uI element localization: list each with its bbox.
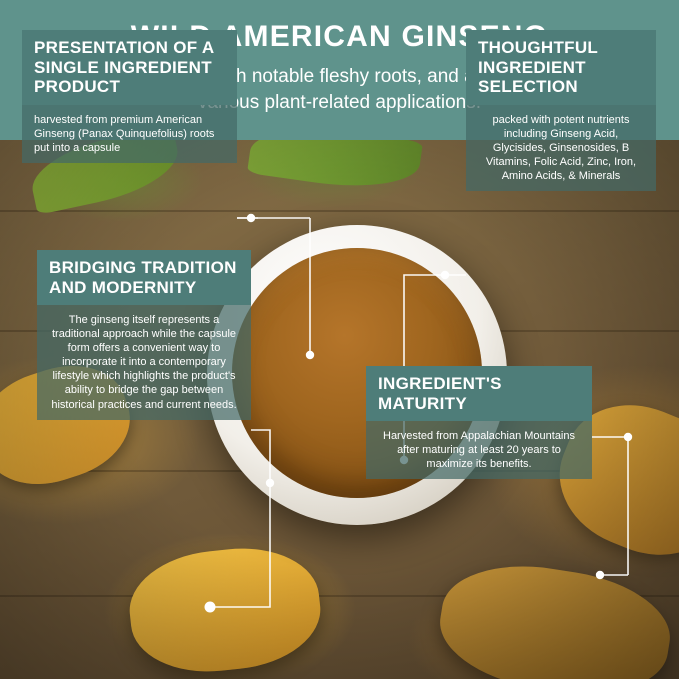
callout-thoughtful-heading: THOUGHTFUL INGREDIENT SELECTION [466,30,656,105]
callout-bridging: BRIDGING TRADITION AND MODERNITY The gin… [37,250,251,420]
callout-maturity: INGREDIENT'S MATURITY Harvested from App… [366,366,592,479]
callout-presentation: PRESENTATION OF A SINGLE INGREDIENT PROD… [22,30,237,163]
callout-thoughtful-body: packed with potent nutrients including G… [466,105,656,191]
callout-presentation-body: harvested from premium American Ginseng … [22,105,237,163]
callout-bridging-body: The ginseng itself represents a traditio… [37,305,251,420]
callout-thoughtful: THOUGHTFUL INGREDIENT SELECTION packed w… [466,30,656,191]
callout-presentation-heading: PRESENTATION OF A SINGLE INGREDIENT PROD… [22,30,237,105]
callout-maturity-body: Harvested from Appalachian Mountains aft… [366,421,592,479]
callout-maturity-heading: INGREDIENT'S MATURITY [366,366,592,421]
infographic-page: WILD AMERICAN GINSENG A perennial plant … [0,0,679,679]
callout-bridging-heading: BRIDGING TRADITION AND MODERNITY [37,250,251,305]
